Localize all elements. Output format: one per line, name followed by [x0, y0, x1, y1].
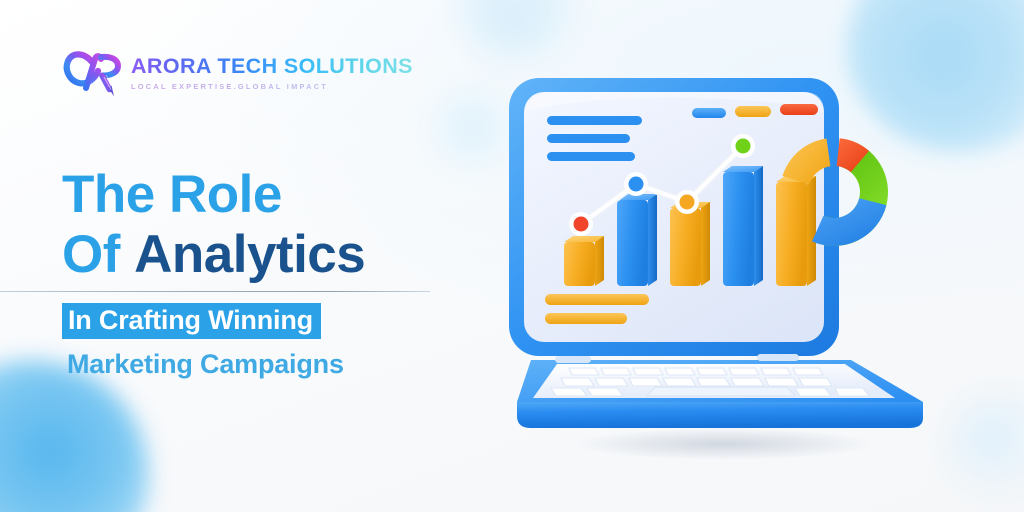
- background-blob-bottom-left: [0, 360, 149, 512]
- text-line-2: [547, 134, 630, 143]
- laptop-analytics-svg: [495, 72, 945, 462]
- pill-blue-icon: [692, 108, 726, 118]
- headline-divider: [0, 291, 430, 292]
- logo-company-name: ARORA TECH SOLUTIONS: [131, 56, 413, 78]
- headline-of: Of: [62, 225, 134, 284]
- headline-line-2: Of Analytics: [62, 228, 482, 283]
- line-point-1: [569, 212, 593, 236]
- line-point-2: [624, 172, 648, 196]
- screen-text-lines: [547, 116, 642, 161]
- pill-orange-icon: [735, 106, 771, 117]
- headline-analytics: Analytics: [134, 225, 365, 284]
- subheadline-block: In Crafting Winning Marketing Campaigns: [62, 303, 344, 380]
- laptop-analytics-illustration: [495, 72, 945, 462]
- pill-red-icon: [780, 104, 818, 115]
- bar-1: [564, 236, 604, 286]
- background-blob-bottom-right: [948, 391, 1024, 496]
- arora-monogram-icon: [62, 44, 128, 100]
- background-blob-top-center: [455, 0, 575, 60]
- footer-bar-1: [545, 294, 649, 305]
- bar-5: [776, 176, 816, 286]
- text-line-3: [547, 152, 635, 161]
- headline-line-1: The Role: [62, 168, 482, 223]
- text-line-1: [547, 116, 642, 125]
- brand-logo[interactable]: ARORA TECH SOLUTIONS LOCAL EXPERTISE.GLO…: [62, 44, 413, 100]
- logo-tagline: LOCAL EXPERTISE.GLOBAL IMPACT: [131, 83, 413, 90]
- laptop-shadow: [573, 428, 873, 460]
- subheadline-highlight: In Crafting Winning: [62, 303, 321, 339]
- bar-4: [723, 166, 763, 286]
- headline-block: The Role Of Analytics: [62, 168, 482, 282]
- line-point-4: [731, 134, 755, 158]
- bar-2: [617, 194, 657, 286]
- laptop-base: [517, 354, 923, 428]
- marketing-banner: ARORA TECH SOLUTIONS LOCAL EXPERTISE.GLO…: [0, 0, 1024, 512]
- subheadline-line-2: Marketing Campaigns: [67, 349, 344, 380]
- spacebar[interactable]: [647, 387, 795, 396]
- footer-bar-2: [545, 313, 627, 324]
- line-point-3: [675, 190, 699, 214]
- bar-3: [670, 202, 710, 286]
